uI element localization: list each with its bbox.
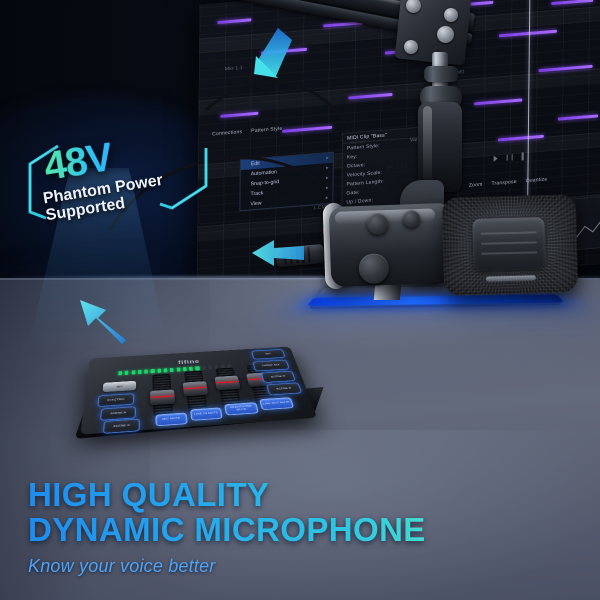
mic-capsule: [472, 217, 545, 271]
mic-mount-column: [418, 102, 462, 192]
mixer-button-headphone-mute[interactable]: HEADPHONE MUTE: [224, 402, 259, 415]
hinge-bolt: [404, 40, 418, 54]
pause-icon[interactable]: [507, 154, 513, 160]
led-level-meter: [118, 364, 231, 375]
mic-gain-knob[interactable]: [367, 213, 389, 235]
mic-body: [329, 203, 452, 287]
hinge-bolt: [437, 26, 454, 43]
product-banner: Mkr 1.1 Mkr 1.2.7 1.CM3 1.CM0 Connection…: [0, 0, 600, 600]
stop-icon[interactable]: [522, 152, 524, 160]
arrow-cable-top: [248, 26, 298, 84]
headline-line-2: DYNAMIC MICROPHONE: [28, 513, 588, 548]
arrow-xlr-plug: [248, 240, 304, 274]
headline-subtitle: Know your voice better: [28, 556, 588, 577]
mic-capsule-head: [442, 194, 579, 295]
headline-line-1: HIGH QUALITY: [28, 478, 588, 513]
hinge-bolt: [444, 8, 458, 22]
mixer-button-line-in-mute[interactable]: LINE IN MUTE: [190, 407, 223, 420]
fader-ch1[interactable]: [150, 389, 175, 405]
mic-mount-knob[interactable]: [358, 253, 389, 284]
play-icon[interactable]: [494, 155, 498, 161]
toolbar-zoom[interactable]: Zoom: [469, 182, 483, 189]
mixer-button-scene-b[interactable]: SCENE B: [261, 371, 296, 383]
mixer-button-mic-mute[interactable]: MIC MUTE: [155, 413, 187, 427]
phantom-power-switch[interactable]: 48V: [103, 381, 137, 392]
mic-volume-knob[interactable]: [403, 210, 421, 228]
mixer-button-line-out-mute[interactable]: LINE OUT MUTE: [259, 397, 294, 410]
headline-block: HIGH QUALITY DYNAMIC MICROPHONE Know you…: [28, 478, 588, 577]
fader-ch2[interactable]: [183, 381, 209, 396]
badge-voltage: 48V: [41, 137, 115, 187]
mixer-button-phone-mix[interactable]: PHONE MIX: [252, 360, 289, 372]
fader-ch3[interactable]: [214, 375, 240, 390]
mixer-button-electric[interactable]: ELECTRIC: [97, 393, 134, 407]
badge-bracket-right: [158, 146, 214, 226]
phantom-power-badge: 48V Phantom Power Supported: [18, 138, 218, 238]
mixer-button-scene-c[interactable]: SCENE C: [103, 419, 140, 434]
mixer-button-48v[interactable]: 48V: [251, 349, 285, 359]
mic-mount-collar: [424, 66, 458, 82]
mixer-brand-logo: fifine: [178, 358, 200, 365]
mixer-button-scene-d[interactable]: SCENE D: [266, 382, 302, 395]
arrow-mixer-input: [76, 296, 128, 344]
